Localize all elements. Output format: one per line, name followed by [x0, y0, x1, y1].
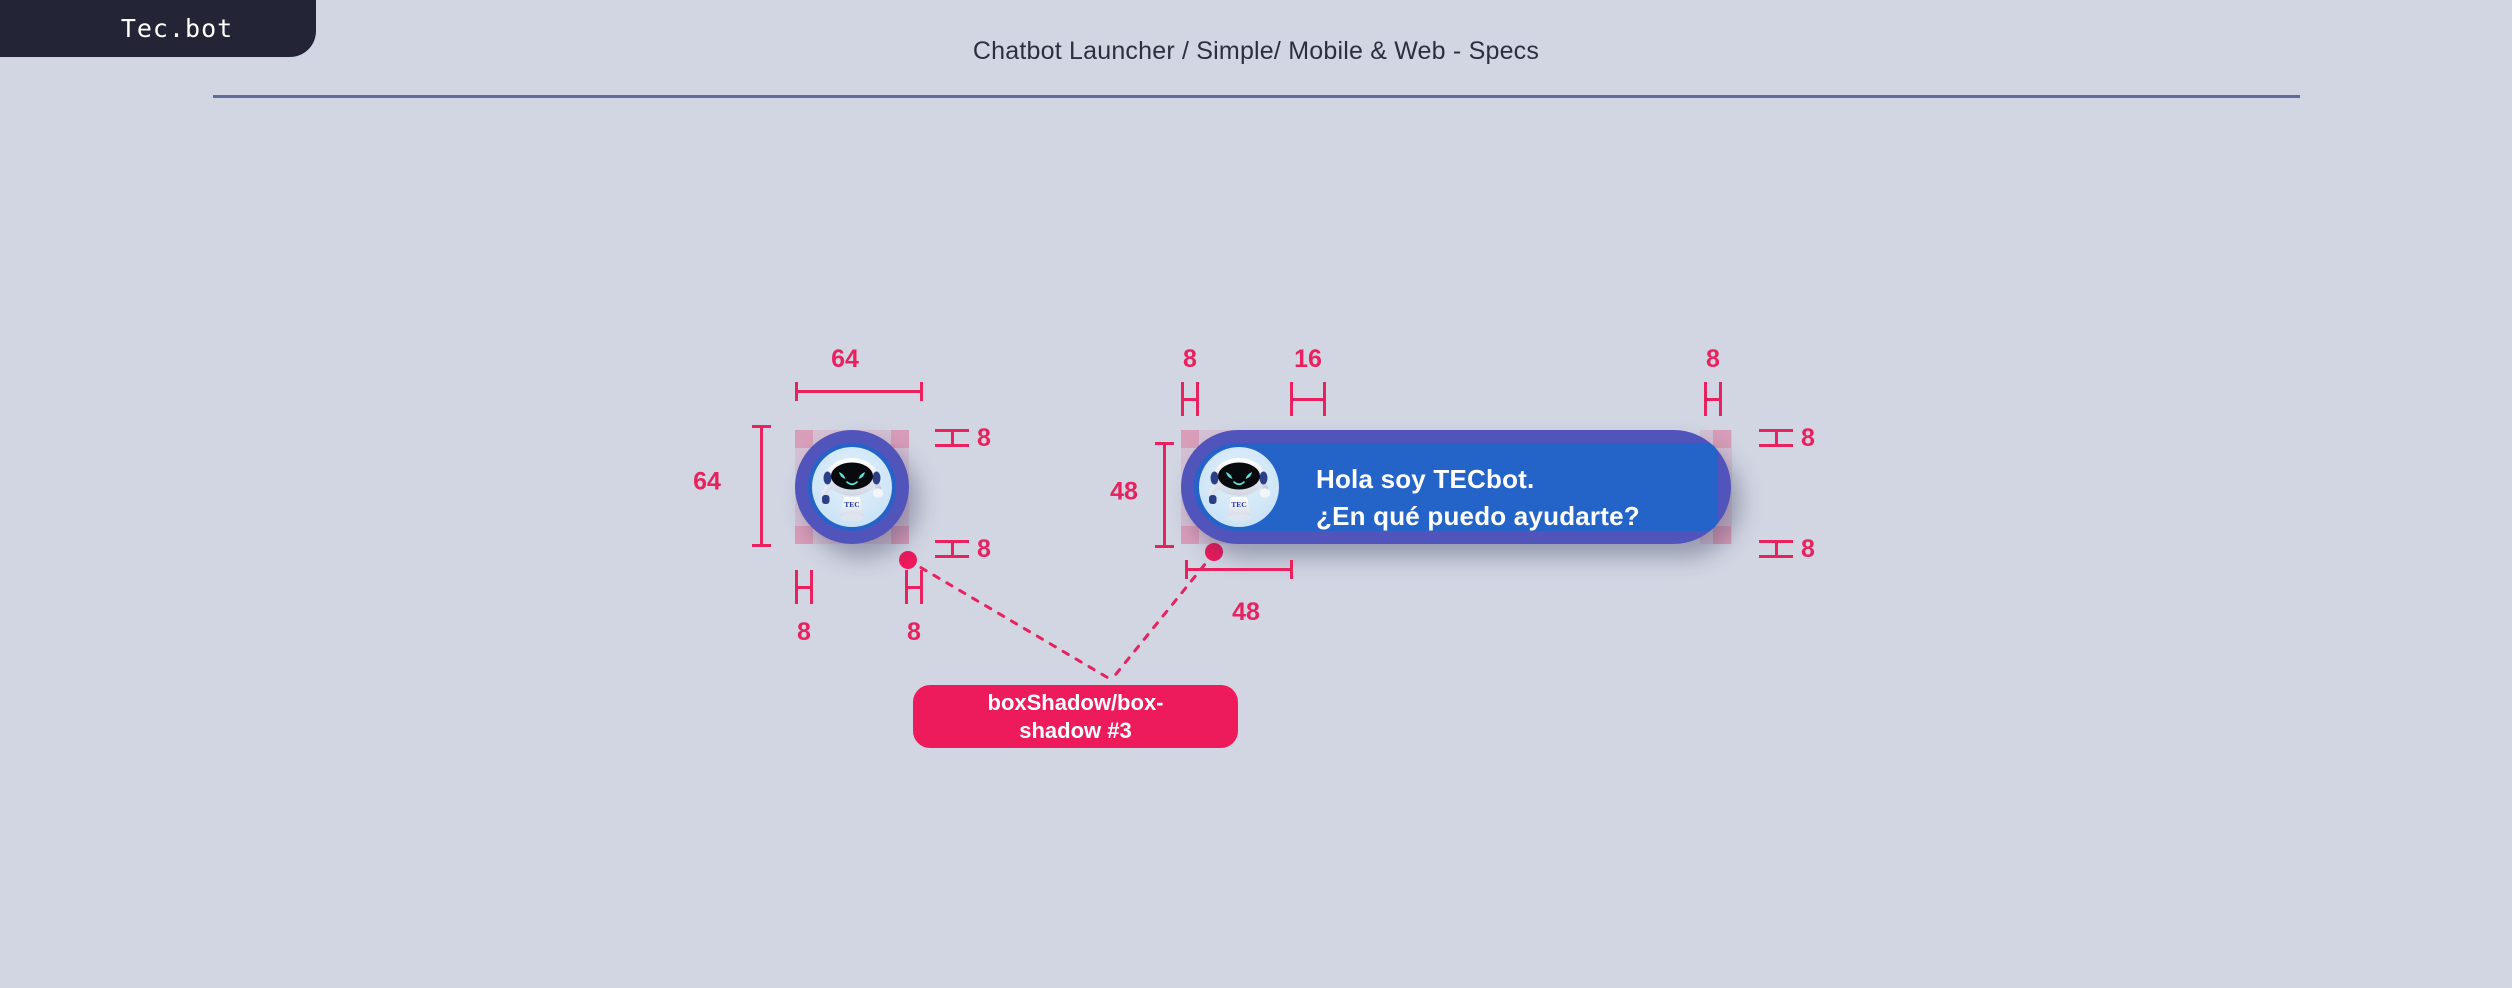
- launcher-collapsed-ring: TEC: [795, 430, 909, 544]
- spec-expanded-avatar-height-line: [1155, 442, 1173, 548]
- greeting-line-2: ¿En qué puedo ayudarte?: [1316, 498, 1640, 531]
- spec-expanded-pad-right-value: 8: [1706, 345, 1720, 374]
- greeting-line-1: Hola soy TECbot.: [1316, 461, 1640, 498]
- avatar: TEC: [1199, 447, 1279, 527]
- tecbot-robot-icon: TEC: [812, 447, 892, 527]
- chatbot-launcher-collapsed[interactable]: TEC: [795, 430, 909, 544]
- svg-text:TEC: TEC: [844, 500, 859, 509]
- spec-collapsed-width-value: 64: [831, 345, 859, 374]
- spec-collapsed-bottom-right-value: 8: [977, 535, 991, 564]
- spec-collapsed-width-line: [795, 382, 923, 400]
- shadow-token-line-1: boxShadow/box-: [988, 689, 1164, 717]
- spec-expanded-avatar-width-value: 48: [1232, 598, 1260, 627]
- spec-expanded-avatar-height-value: 48: [1110, 478, 1138, 507]
- spec-collapsed-bottom-left-value: 8: [797, 618, 811, 647]
- launcher-greeting-text: Hola soy TECbot. ¿En qué puedo ayudarte?: [1316, 461, 1640, 531]
- spec-collapsed-bottom-left-bracket: [795, 570, 813, 604]
- spec-expanded-gap-bracket: [1290, 382, 1326, 416]
- spec-expanded-avatar-width-line: [1185, 560, 1293, 578]
- spec-expanded-top-right-bracket: [1759, 429, 1793, 447]
- header-divider: [213, 95, 2300, 98]
- spec-expanded-bottom-right-bracket: [1759, 540, 1793, 558]
- launcher-expanded-ring: TEC Hola soy TECbot. ¿En qué puedo ayuda…: [1181, 430, 1731, 544]
- spec-expanded-gap-value: 16: [1294, 345, 1322, 374]
- spec-expanded-pad-left-value: 8: [1183, 345, 1197, 374]
- spec-collapsed-height-line: [752, 425, 770, 547]
- svg-text:TEC: TEC: [1231, 500, 1246, 509]
- spec-collapsed-bottom-right-bracket: [935, 540, 969, 558]
- spec-expanded-bottom-right-value: 8: [1801, 535, 1815, 564]
- launcher-collapsed-inner: TEC: [808, 443, 896, 531]
- spec-expanded-top-right-value: 8: [1801, 424, 1815, 453]
- spec-expanded-pad-left-bracket: [1181, 382, 1199, 416]
- shadow-token-line-2: shadow #3: [988, 717, 1164, 745]
- spec-collapsed-bottom-mid-bracket: [905, 570, 923, 604]
- launcher-expanded-inner: TEC Hola soy TECbot. ¿En qué puedo ayuda…: [1194, 443, 1718, 531]
- spec-collapsed-height-value: 64: [693, 468, 721, 497]
- spec-collapsed-top-right-bracket: [935, 429, 969, 447]
- shadow-token-badge[interactable]: boxShadow/box- shadow #3: [913, 685, 1238, 748]
- avatar: TEC: [812, 447, 892, 527]
- page-title: Chatbot Launcher / Simple/ Mobile & Web …: [0, 37, 2512, 66]
- tecbot-robot-icon: TEC: [1199, 447, 1279, 527]
- spec-collapsed-bottom-mid-value: 8: [907, 618, 921, 647]
- spec-expanded-pad-right-bracket: [1704, 382, 1722, 416]
- chatbot-launcher-expanded[interactable]: TEC Hola soy TECbot. ¿En qué puedo ayuda…: [1181, 430, 1731, 544]
- spec-collapsed-top-right-value: 8: [977, 424, 991, 453]
